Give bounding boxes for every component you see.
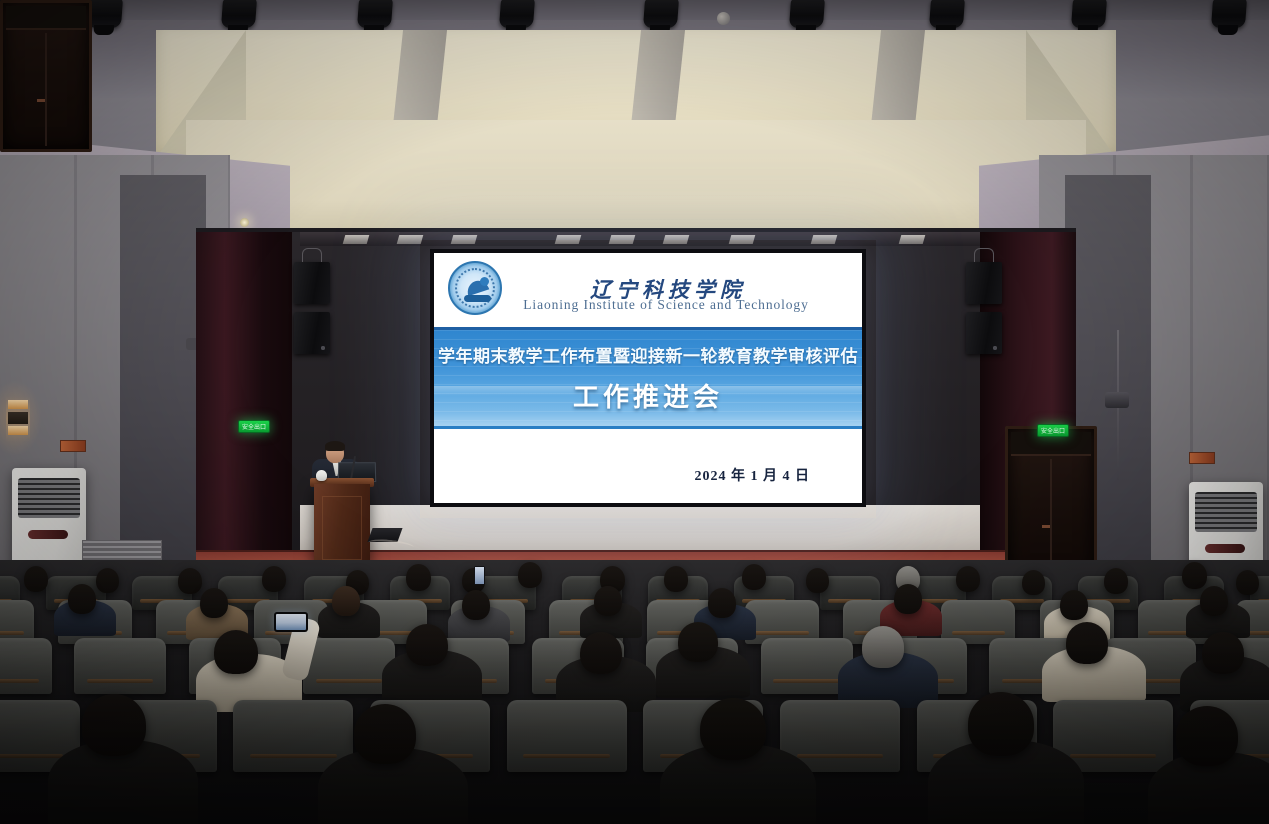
ac-brand-badge [28, 530, 68, 539]
auditorium-seat[interactable] [0, 638, 52, 694]
phone-screen [276, 614, 306, 630]
attendee-phone-camera [274, 612, 308, 632]
stage-rail-light [663, 235, 690, 244]
seat-row [0, 700, 1269, 772]
wall-plaque-left [60, 440, 86, 452]
ceiling-front-wall [186, 120, 1086, 235]
stage-rail-light [397, 235, 424, 244]
auditorium-photo: 辽宁科技学院 Liaoning Institute of Science and… [0, 0, 1269, 824]
stage-rail-light [609, 235, 636, 244]
attendee-head [1182, 562, 1207, 589]
door-handle[interactable] [37, 99, 45, 102]
attendee-head [1176, 706, 1238, 766]
loudspeaker-icon [966, 312, 1002, 354]
attendee-head [1022, 570, 1045, 595]
ac-grille [1195, 492, 1257, 532]
stage-curtain-left [196, 232, 292, 552]
attendee-head [1236, 570, 1259, 595]
door-transom [6, 6, 86, 30]
ceiling-spotlight-icon [499, 0, 535, 28]
speaker-bracket [974, 248, 994, 262]
downlight-icon [240, 218, 249, 227]
ac-brand-badge [1205, 544, 1245, 553]
door-handle[interactable] [1042, 525, 1050, 528]
podium-front-panel [322, 496, 362, 560]
attendee-head [700, 698, 766, 760]
attendee-head [862, 626, 904, 668]
logo-dot [480, 277, 489, 286]
ceiling-spotlight-icon [1211, 0, 1247, 28]
loudspeaker-icon [294, 262, 330, 304]
attendee-head [956, 566, 980, 592]
wall-sconce-light [6, 396, 30, 442]
auditorium-seat[interactable] [74, 638, 166, 694]
ceiling-spotlight-icon [1071, 0, 1107, 28]
slide-title-line-2: 工作推进会 [573, 377, 723, 414]
water-cup [316, 470, 327, 481]
wall-speaker-stack-right [966, 262, 1002, 354]
attendee-head [262, 566, 286, 592]
attendee-head [806, 568, 829, 593]
auditorium-seat[interactable] [507, 700, 627, 772]
attendee-head [406, 564, 431, 591]
ceiling-spotlight-icon [789, 0, 825, 28]
slide-title-banner: 学年期末教学工作布置暨迎接新一轮教育教学审核评估 工作推进会 [434, 330, 862, 426]
projection-screen: 辽宁科技学院 Liaoning Institute of Science and… [430, 249, 866, 507]
door-split [45, 33, 47, 146]
stage-rail-light [343, 235, 370, 244]
attendee-head [178, 568, 202, 594]
presenter-hair [325, 441, 345, 451]
ceiling-spotlight-icon [221, 0, 257, 28]
attendee-head-filming [214, 630, 258, 674]
ceiling-spotlight-icon [357, 0, 393, 28]
attendee-head [742, 564, 766, 590]
attendee-head [708, 588, 736, 618]
attendee-head [82, 694, 146, 756]
attendee-head [1202, 632, 1244, 674]
attendee-head [518, 562, 542, 588]
attendee-phone-raised [474, 566, 485, 585]
exit-door-right[interactable] [1005, 426, 1097, 578]
exit-door-left[interactable] [0, 0, 92, 152]
wall-plaque-right [1189, 452, 1215, 464]
attendee-head [96, 568, 119, 593]
stage-rail-light [555, 235, 582, 244]
institution-name-english: Liaoning Institute of Science and Techno… [434, 297, 862, 313]
attendee-head [1066, 622, 1108, 664]
attendee-head [68, 584, 96, 614]
speaker-bracket [302, 248, 322, 262]
attendee-head [354, 704, 416, 764]
attendee-head [594, 586, 622, 616]
attendee-head [894, 584, 922, 614]
ceiling-spotlight-icon [929, 0, 965, 28]
attendee-head [24, 566, 48, 592]
attendee-head [200, 588, 228, 618]
attendee-head [1200, 586, 1228, 616]
attendee-head [406, 624, 448, 666]
attendee-head [664, 566, 688, 592]
ceiling-spotlight-icon [643, 0, 679, 28]
stage-rail-light [899, 235, 926, 244]
exit-sign-left: 安全出口 [238, 420, 270, 433]
wall-speaker-stack-left [294, 262, 330, 354]
slide-date: 2024 年 1 月 4 日 [695, 465, 811, 485]
attendee-head [678, 622, 718, 662]
attendee-head [462, 590, 490, 620]
slide-title-line-1: 学年期末教学工作布置暨迎接新一轮教育教学审核评估 [438, 342, 858, 367]
loudspeaker-icon [294, 312, 330, 354]
slide-body: 2024 年 1 月 4 日 [434, 429, 862, 503]
door-split [1050, 459, 1052, 572]
exit-sign-right: 安全出口 [1037, 424, 1069, 437]
stage-rail-light [451, 235, 478, 244]
attendee-head [332, 586, 360, 616]
attendee-head [1104, 568, 1128, 594]
attendee-head [968, 692, 1034, 756]
attendee-head [580, 632, 622, 674]
loudspeaker-icon [966, 262, 1002, 304]
stage-rail-light [729, 235, 756, 244]
ceiling-projector-icon [1105, 392, 1129, 408]
attendee-head [1060, 590, 1088, 620]
smoke-detector-icon [717, 12, 730, 25]
stage-rail-light [811, 235, 838, 244]
ac-grille [18, 478, 80, 518]
ceiling-spotlight-icon [87, 0, 123, 28]
presentation-slide: 辽宁科技学院 Liaoning Institute of Science and… [434, 253, 862, 503]
slide-header: 辽宁科技学院 Liaoning Institute of Science and… [434, 253, 862, 327]
